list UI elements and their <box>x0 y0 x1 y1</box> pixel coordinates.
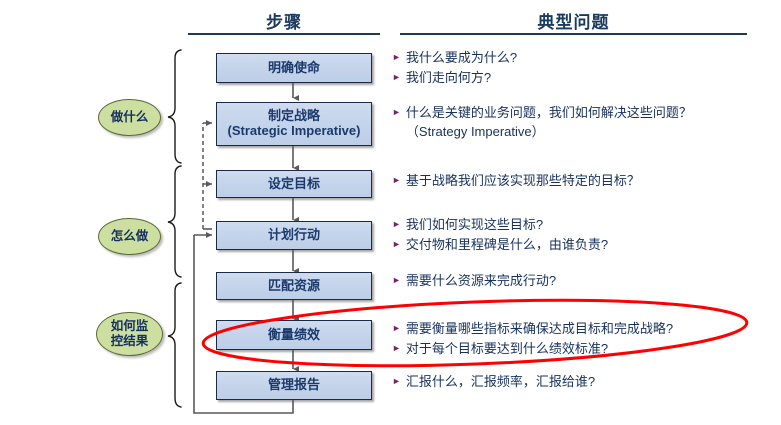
question-group-7: ► 汇报什么，汇报频率，汇报给谁? <box>392 373 752 393</box>
process-box-7[interactable]: 管理报告 <box>216 371 372 400</box>
question-item: ► 我们如何实现这些目标? <box>392 216 752 235</box>
question-text: 我们如何实现这些目标? <box>406 216 752 235</box>
question-group-1: ► 我什么要成为什么? ► 我们走向何方? <box>392 49 752 89</box>
column-header-steps: 步骤 <box>188 8 380 33</box>
bullet-icon: ► <box>392 104 401 121</box>
process-box-1-label: 明确使命 <box>268 61 320 76</box>
brace-phase-3 <box>168 283 181 407</box>
question-group-2: ► 什么是关键的业务问题，我们如何解决这些问题？（Strategy Impera… <box>392 104 744 143</box>
question-item: ► 基于战略我们应该实现那些特定的目标？ <box>392 172 752 191</box>
question-group-3: ► 基于战略我们应该实现那些特定的目标？ <box>392 172 752 192</box>
process-box-6-label: 衡量绩效 <box>268 328 320 343</box>
question-text: 需要衡量哪些指标来确保达成目标和完成战略? <box>406 320 752 339</box>
bullet-icon: ► <box>392 216 401 233</box>
column-header-steps-rule <box>188 33 380 35</box>
phase-oval-2-label: 怎么做 <box>111 229 149 244</box>
question-text: 我们走向何方? <box>406 69 752 88</box>
question-item: ► 需要衡量哪些指标来确保达成目标和完成战略? <box>392 320 752 339</box>
phase-oval-2[interactable]: 怎么做 <box>98 218 161 255</box>
question-group-5: ► 需要什么资源来完成行动? <box>392 272 752 292</box>
question-item: ► 对于每个目标要达到什么绩效标准? <box>392 340 752 359</box>
brace-phase-2 <box>168 166 181 277</box>
process-box-3-label: 设定目标 <box>268 177 320 192</box>
question-text: 交付物和里程碑是什么，由谁负责? <box>406 236 752 255</box>
question-text: 需要什么资源来完成行动? <box>406 272 752 291</box>
bullet-icon: ► <box>392 69 401 86</box>
column-header-questions: 典型问题 <box>400 8 747 33</box>
question-item: ► 需要什么资源来完成行动? <box>392 272 752 291</box>
question-text: 我什么要成为什么? <box>406 49 752 68</box>
phase-oval-1-label: 做什么 <box>111 110 149 125</box>
process-box-6[interactable]: 衡量绩效 <box>216 320 372 350</box>
question-item: ► 汇报什么，汇报频率，汇报给谁? <box>392 373 752 392</box>
phase-oval-1[interactable]: 做什么 <box>98 99 161 136</box>
process-box-2-sublabel: (Strategic Imperative) <box>228 124 361 139</box>
bullet-icon: ► <box>392 340 401 357</box>
process-box-1[interactable]: 明确使命 <box>216 53 372 83</box>
bullet-icon: ► <box>392 272 401 289</box>
question-item: ► 交付物和里程碑是什么，由谁负责? <box>392 236 752 255</box>
process-box-4-label: 计划行动 <box>268 228 320 243</box>
bullet-icon: ► <box>392 236 401 253</box>
process-box-3[interactable]: 设定目标 <box>216 170 372 198</box>
question-item: ► 什么是关键的业务问题，我们如何解决这些问题？（Strategy Impera… <box>392 104 744 142</box>
phase-oval-3[interactable]: 如何监 控结果 <box>96 312 163 356</box>
process-box-7-label: 管理报告 <box>268 378 320 393</box>
brace-phase-1 <box>168 50 181 163</box>
question-item: ► 我什么要成为什么? <box>392 49 752 68</box>
bullet-icon: ► <box>392 373 401 390</box>
bullet-icon: ► <box>392 320 401 337</box>
phase-oval-3-label-line2: 控结果 <box>111 334 149 349</box>
question-text: 汇报什么，汇报频率，汇报给谁? <box>406 373 752 392</box>
process-box-2[interactable]: 制定战略 (Strategic Imperative) <box>216 102 372 146</box>
bullet-icon: ► <box>392 49 401 66</box>
column-header-questions-rule <box>400 33 747 35</box>
question-group-4: ► 我们如何实现这些目标? ► 交付物和里程碑是什么，由谁负责? <box>392 216 752 256</box>
question-text: 对于每个目标要达到什么绩效标准? <box>406 340 752 359</box>
question-text: 基于战略我们应该实现那些特定的目标？ <box>406 172 752 191</box>
question-item: ► 我们走向何方? <box>392 69 752 88</box>
process-box-5-label: 匹配资源 <box>268 279 320 294</box>
bullet-icon: ► <box>392 172 401 189</box>
process-box-5[interactable]: 匹配资源 <box>216 272 372 300</box>
slide-canvas: 步骤 典型问题 <box>0 0 781 425</box>
question-group-6: ► 需要衡量哪些指标来确保达成目标和完成战略? ► 对于每个目标要达到什么绩效标… <box>392 320 752 360</box>
process-box-4[interactable]: 计划行动 <box>216 221 372 250</box>
phase-oval-3-label-line1: 如何监 <box>111 319 149 334</box>
question-text: 什么是关键的业务问题，我们如何解决这些问题？（Strategy Imperati… <box>406 104 744 142</box>
process-box-2-label: 制定战略 <box>268 109 320 124</box>
